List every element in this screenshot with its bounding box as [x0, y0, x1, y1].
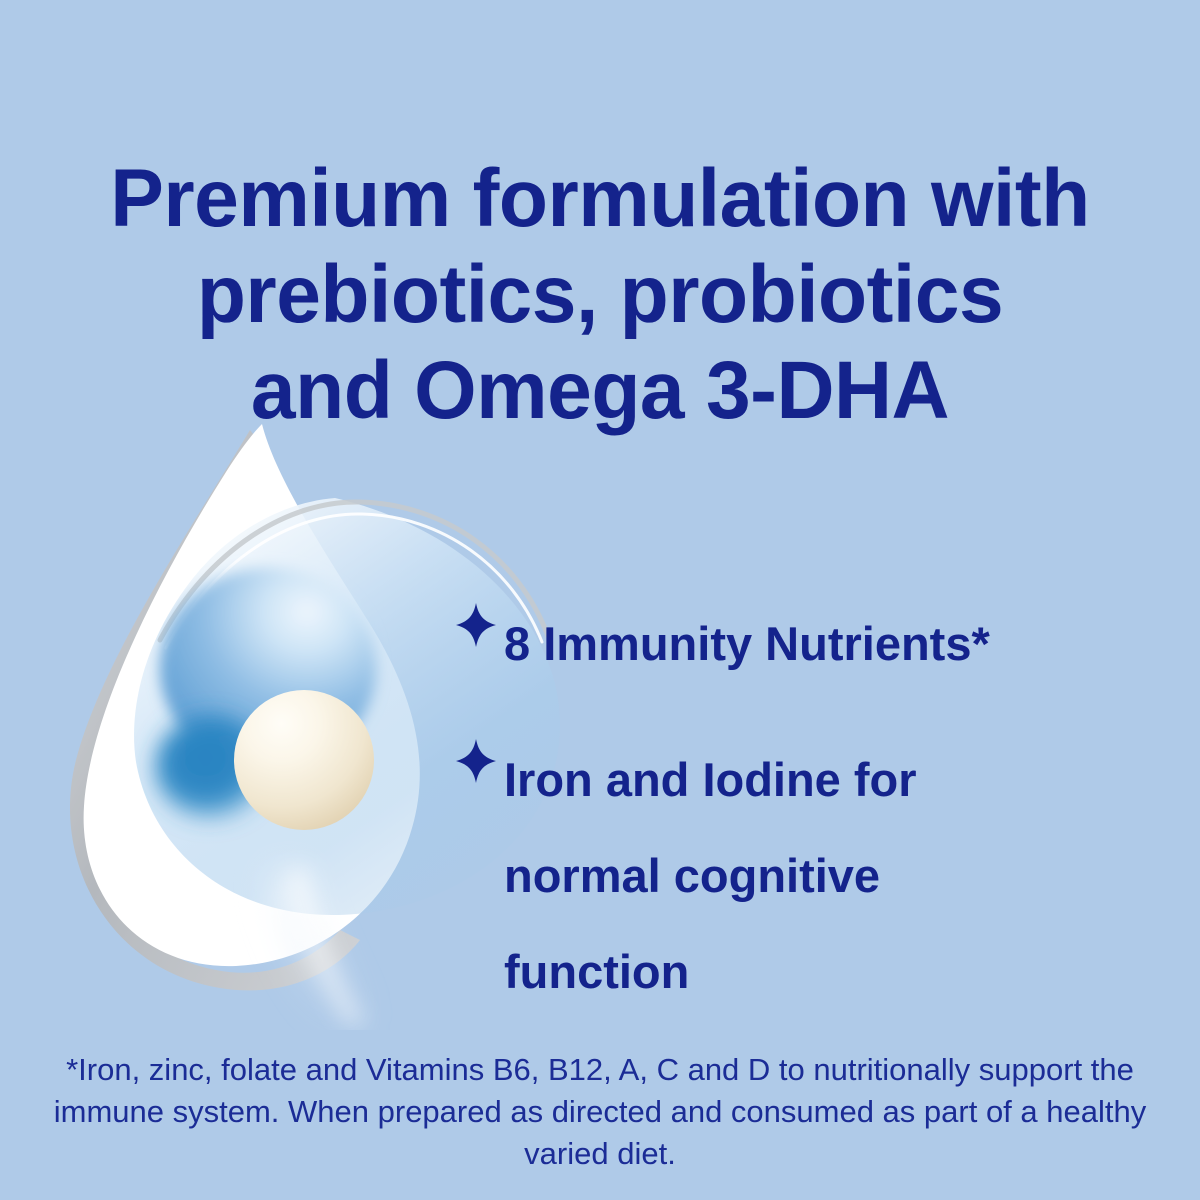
promo-panel: Premium formulation with prebiotics, pro…: [0, 0, 1200, 1200]
benefit-text-1: 8 Immunity Nutrients*: [504, 596, 1064, 692]
headline: Premium formulation with prebiotics, pro…: [12, 151, 1188, 439]
list-item: 8 Immunity Nutrients*: [448, 596, 1168, 692]
headline-line-2: prebiotics, probiotics: [12, 247, 1188, 343]
headline-line-3: and Omega 3-DHA: [12, 343, 1188, 439]
four-point-star-icon: [448, 598, 504, 654]
cream-sphere: [234, 690, 374, 830]
benefits-list: 8 Immunity Nutrients* Iron and Iodine fo…: [448, 596, 1168, 1020]
list-item: Iron and Iodine for normal cognitive fun…: [448, 732, 1168, 1020]
four-point-star-icon: [448, 734, 504, 790]
footnote-disclaimer: *Iron, zinc, folate and Vitamins B6, B12…: [0, 1049, 1200, 1175]
headline-line-1: Premium formulation with: [12, 151, 1188, 247]
benefit-text-2: Iron and Iodine for normal cognitive fun…: [504, 732, 1064, 1020]
